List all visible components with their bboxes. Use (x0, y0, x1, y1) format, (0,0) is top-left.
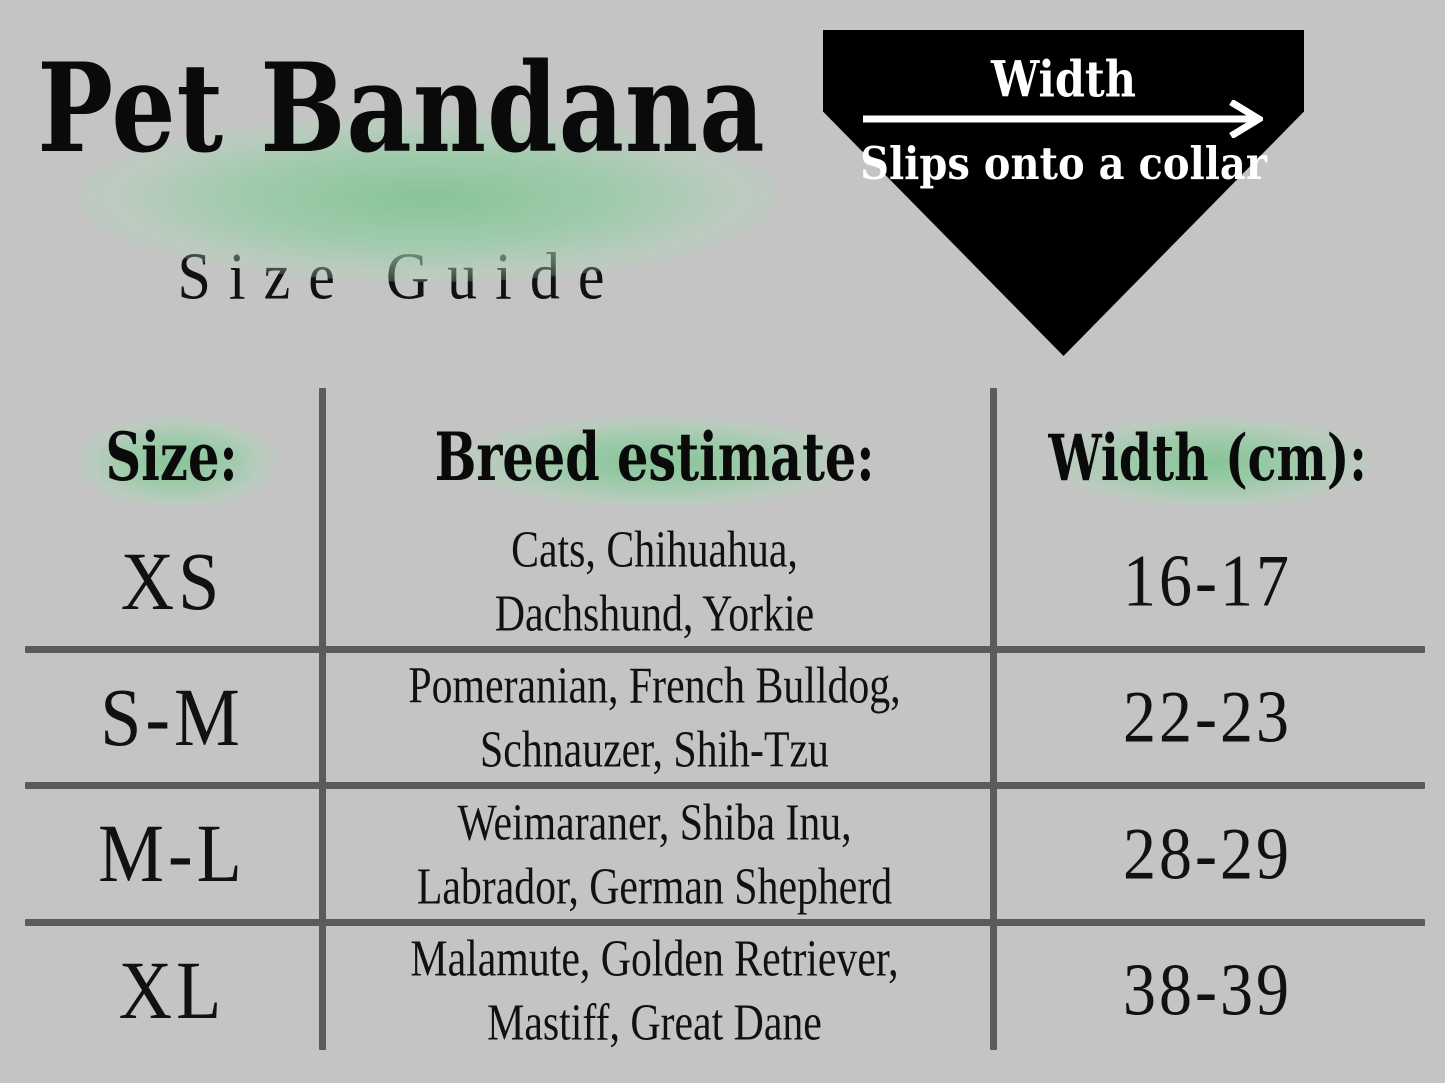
row-breed-line2: Labrador, German Shepherd (345, 855, 963, 918)
table-header-breed-label: Breed estimate: (435, 425, 875, 492)
page-title: Pet Bandana (12, 37, 791, 185)
table-divider-horizontal-1 (25, 646, 1425, 653)
table-header-width-label: Width (cm): (1048, 426, 1366, 490)
bandana-illustration: Width Slips onto a collar (823, 30, 1304, 356)
row-breed-line2: Schnauzer, Shih-Tzu (345, 718, 963, 781)
row-breed-value: Pomeranian, French Bulldog, Schnauzer, S… (336, 655, 973, 782)
table-row: S-M Pomeranian, French Bulldog, Schnauze… (25, 654, 1425, 782)
table-row: XL Malamute, Golden Retriever, Mastiff, … (25, 927, 1425, 1055)
table-divider-horizontal-2 (25, 782, 1425, 789)
table-row: M-L Weimaraner, Shiba Inu, Labrador, Ger… (25, 790, 1425, 919)
table-header-breed: Breed estimate: (319, 398, 990, 518)
bandana-collar-label: Slips onto a collar (823, 142, 1304, 187)
size-table: Size: Breed estimate: Width (cm): XS Cat… (25, 386, 1425, 1051)
row-width-value: 28-29 (990, 812, 1425, 897)
row-breed-value: Cats, Chihuahua, Dachshund, Yorkie (336, 519, 973, 646)
row-size-value: M-L (25, 807, 319, 902)
page-subtitle: Size Guide (0, 238, 800, 315)
row-breed-value: Malamute, Golden Retriever, Mastiff, Gre… (336, 928, 973, 1055)
row-breed-line1: Cats, Chihuahua, (345, 519, 963, 582)
row-breed-line1: Malamute, Golden Retriever, (345, 928, 963, 991)
row-width-value: 22-23 (990, 675, 1425, 760)
table-header-size-label: Size: (106, 425, 238, 492)
row-size-value: S-M (25, 670, 319, 765)
row-breed-line1: Weimaraner, Shiba Inu, (345, 791, 963, 854)
table-header-width: Width (cm): (990, 398, 1425, 518)
row-breed-line1: Pomeranian, French Bulldog, (345, 655, 963, 718)
row-width-value: 38-39 (990, 948, 1425, 1033)
table-header-size: Size: (25, 398, 319, 518)
right-arrow-icon (863, 100, 1263, 138)
row-size-value: XS (25, 534, 319, 629)
table-header-row: Size: Breed estimate: Width (cm): (25, 398, 1425, 518)
bandana-width-label: Width (823, 56, 1304, 105)
title-block: Pet Bandana (0, 48, 800, 173)
table-row: XS Cats, Chihuahua, Dachshund, Yorkie 16… (25, 518, 1425, 646)
table-divider-horizontal-3 (25, 919, 1425, 926)
row-breed-line2: Mastiff, Great Dane (345, 991, 963, 1054)
row-size-value: XL (25, 943, 319, 1038)
row-width-value: 16-17 (990, 539, 1425, 624)
size-guide-page: Pet Bandana Size Guide Width Slips onto … (0, 0, 1445, 1083)
row-breed-line2: Dachshund, Yorkie (345, 582, 963, 645)
row-breed-value: Weimaraner, Shiba Inu, Labrador, German … (336, 791, 973, 918)
